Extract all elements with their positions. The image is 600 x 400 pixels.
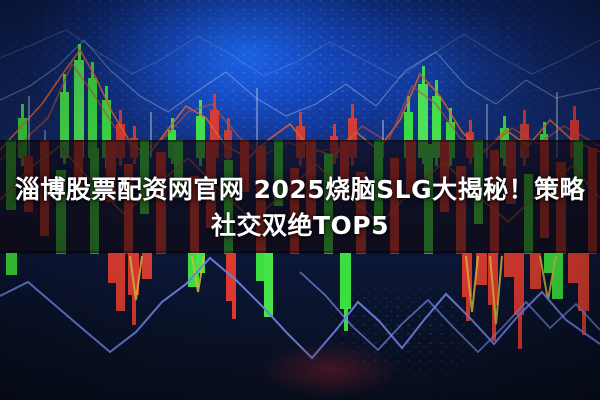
headline-line-2: 社交双绝TOP5 xyxy=(6,208,594,244)
banner-headline: 淄博股票配资网官网 2025烧脑SLG大揭秘！策略 社交双绝TOP5 xyxy=(0,172,600,244)
headline-line-1: 淄博股票配资网官网 2025烧脑SLG大揭秘！策略 xyxy=(6,172,594,208)
bottom-red-glow xyxy=(230,330,430,400)
article-banner: 淄博股票配资网官网 2025烧脑SLG大揭秘！策略 社交双绝TOP5 xyxy=(0,0,600,400)
